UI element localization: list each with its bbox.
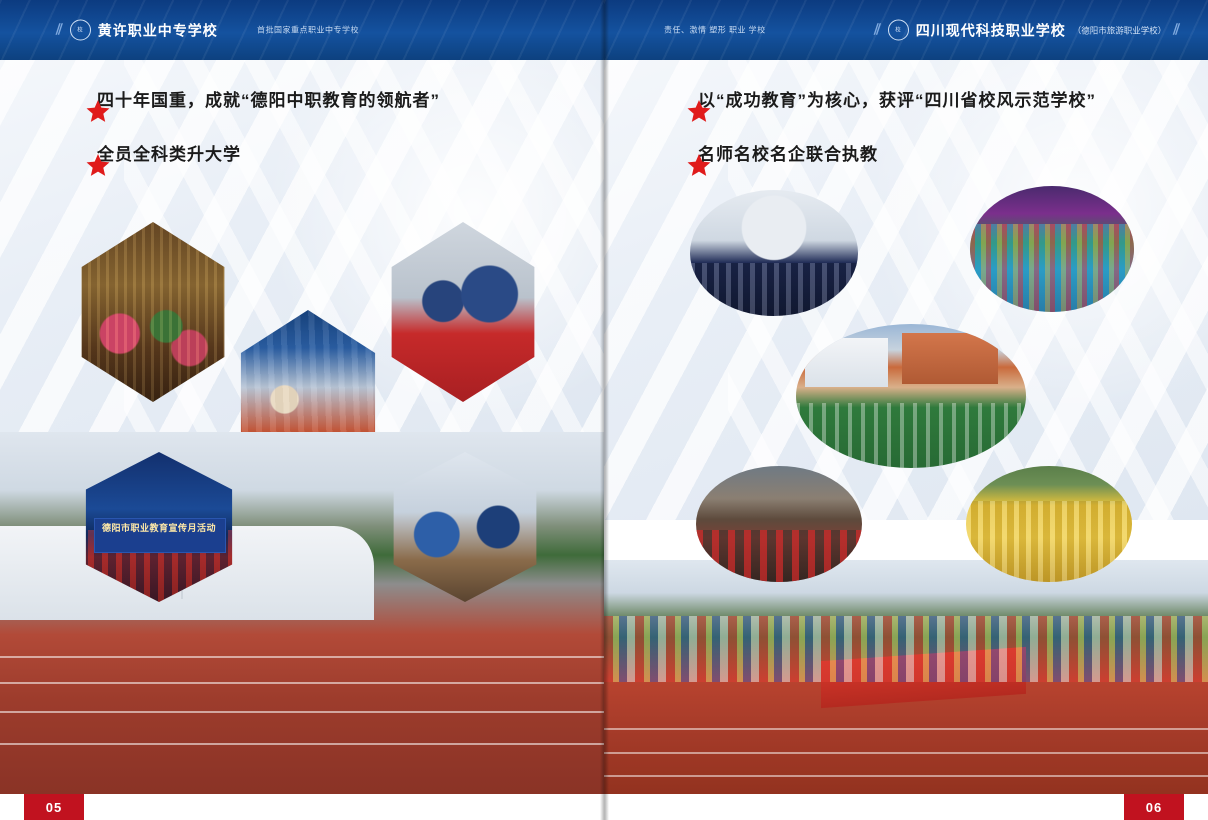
right-header-band: ⫽ 校 四川现代科技职业学校 （德阳市旅游职业学校） ⫽ 责任、激情 塑形 职业… <box>604 0 1208 60</box>
campus-building-right <box>902 333 999 385</box>
photo-campus-aerial <box>796 324 1026 468</box>
red-banner-cloth <box>821 646 1026 707</box>
right-footer-bar <box>604 794 1208 820</box>
right-page: ⫽ 校 四川现代科技职业学校 （德阳市旅游职业学校） ⫽ 责任、激情 塑形 职业… <box>604 0 1208 820</box>
school-seal-icon: 校 <box>70 20 91 41</box>
slash-decoration-icon: ⫽ <box>56 22 63 39</box>
left-header-caption: 首批国家重点职业中专学校 <box>257 25 359 36</box>
right-headline-1-text: 以“成功教育”为核心，获评“四川省校风示范学校” <box>698 86 1096 111</box>
photo-yellow-choir <box>966 466 1132 582</box>
right-school-subname: （德阳市旅游职业学校） <box>1073 24 1167 36</box>
photo-student-formation <box>690 190 858 316</box>
right-headline-2: 名师名校名企联合执教 <box>686 140 878 165</box>
right-headline-1: 以“成功教育”为核心，获评“四川省校风示范学校” <box>686 86 1096 111</box>
left-headline-1-text: 四十年国重，成就“德阳中职教育的领航者” <box>97 86 440 111</box>
left-page-number: 05 <box>24 794 84 820</box>
slash-decoration-icon-2: ⫽ <box>1173 22 1180 39</box>
school-seal-icon: 校 <box>888 20 909 41</box>
right-school-name: 四川现代科技职业学校 <box>916 20 1066 40</box>
right-page-number: 06 <box>1124 794 1184 820</box>
left-headline-2-text: 全员全科类升大学 <box>97 140 241 165</box>
left-headline-2: 全员全科类升大学 <box>85 140 241 165</box>
photo-sports-meeting <box>604 560 1208 794</box>
left-footer-bar <box>0 794 604 820</box>
photo-stadium-performance <box>970 186 1134 312</box>
slash-decoration-icon: ⫽ <box>874 22 881 39</box>
left-school-logo: ⫽ 校 黄许职业中专学校 <box>56 20 218 41</box>
right-headline-2-text: 名师名校名企联合执教 <box>698 140 878 165</box>
left-headline-1: 四十年国重，成就“德阳中职教育的领航者” <box>85 86 440 111</box>
ceremony-banner-text: 德阳市职业教育宣传月活动 <box>94 521 223 534</box>
brochure-spread: ⫽ 校 黄许职业中专学校 首批国家重点职业中专学校 四十年国重，成就“德阳中职教… <box>0 0 1208 820</box>
right-school-logo: ⫽ 校 四川现代科技职业学校 （德阳市旅游职业学校） ⫽ <box>874 20 1180 41</box>
left-page: ⫽ 校 黄许职业中专学校 首批国家重点职业中专学校 四十年国重，成就“德阳中职教… <box>0 0 604 820</box>
right-header-caption: 责任、激情 塑形 职业 学校 <box>664 25 766 36</box>
left-school-name: 黄许职业中专学校 <box>98 20 218 40</box>
campus-building-left <box>805 338 888 387</box>
left-header-band: ⫽ 校 黄许职业中专学校 首批国家重点职业中专学校 <box>0 0 604 60</box>
photo-flag-raising <box>696 466 862 582</box>
